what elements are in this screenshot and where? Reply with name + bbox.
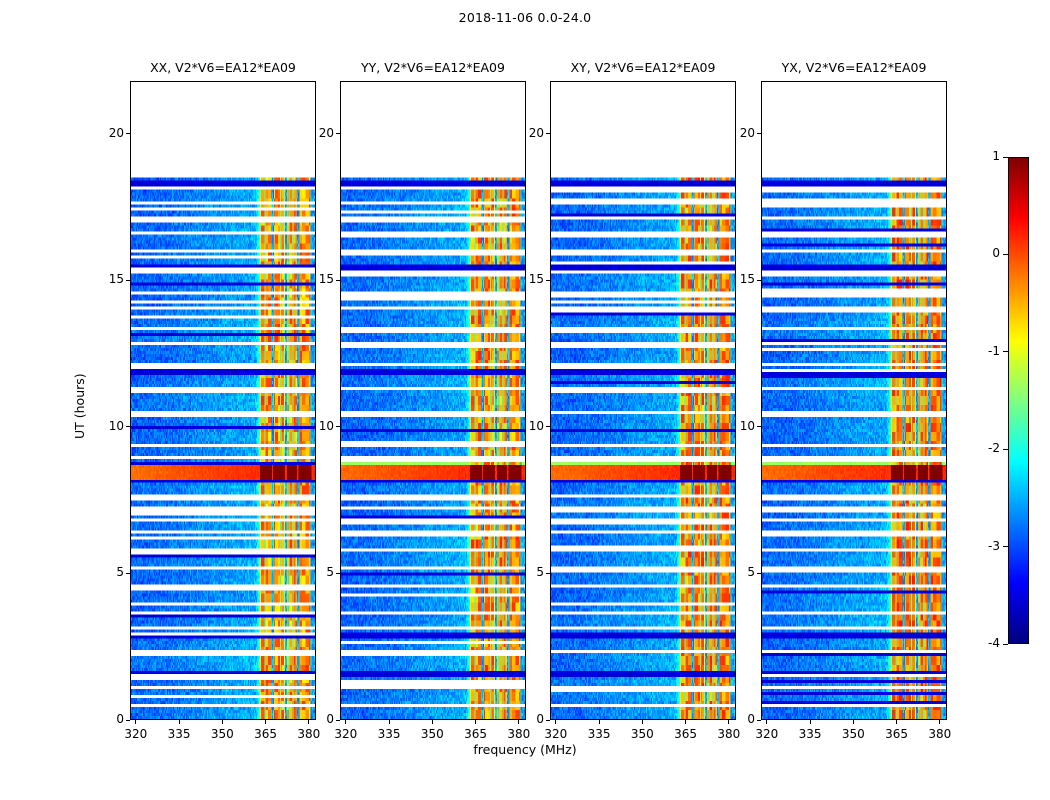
x-tick-mark bbox=[345, 720, 346, 724]
y-tick-mark bbox=[126, 133, 130, 134]
y-tick-label: 20 bbox=[717, 126, 755, 140]
y-tick-mark bbox=[546, 280, 550, 281]
x-tick-mark bbox=[432, 720, 433, 724]
colorbar-tick-label: -1 bbox=[960, 344, 1000, 358]
y-tick-mark bbox=[757, 426, 761, 427]
y-tick-label: 0 bbox=[506, 712, 544, 726]
x-tick-label: 365 bbox=[454, 727, 498, 741]
y-tick-mark bbox=[336, 133, 340, 134]
waterfall-panel-yx bbox=[761, 81, 947, 720]
y-tick-mark bbox=[336, 426, 340, 427]
colorbar bbox=[1008, 157, 1029, 644]
y-tick-mark bbox=[546, 426, 550, 427]
y-tick-label: 15 bbox=[506, 272, 544, 286]
y-tick-mark bbox=[126, 573, 130, 574]
panel-title-xy: XY, V2*V6=EA12*EA09 bbox=[550, 60, 736, 75]
x-tick-mark bbox=[766, 720, 767, 724]
y-tick-mark bbox=[757, 280, 761, 281]
x-tick-label: 350 bbox=[620, 727, 664, 741]
colorbar-tick-mark bbox=[1003, 644, 1008, 645]
y-tick-label: 0 bbox=[296, 712, 334, 726]
colorbar-tick-mark bbox=[1003, 157, 1008, 158]
x-tick-label: 350 bbox=[200, 727, 244, 741]
y-tick-mark bbox=[546, 133, 550, 134]
y-tick-mark bbox=[126, 426, 130, 427]
y-tick-label: 15 bbox=[717, 272, 755, 286]
x-tick-mark bbox=[389, 720, 390, 724]
x-tick-label: 335 bbox=[577, 727, 621, 741]
y-tick-label: 10 bbox=[717, 419, 755, 433]
x-tick-label: 320 bbox=[534, 727, 578, 741]
y-tick-label: 10 bbox=[86, 419, 124, 433]
x-tick-label: 335 bbox=[788, 727, 832, 741]
y-tick-label: 0 bbox=[717, 712, 755, 726]
x-tick-mark bbox=[135, 720, 136, 724]
waterfall-image-yy bbox=[341, 82, 525, 719]
x-tick-mark bbox=[939, 720, 940, 724]
x-tick-label: 320 bbox=[745, 727, 789, 741]
x-tick-mark bbox=[222, 720, 223, 724]
y-tick-label: 5 bbox=[296, 565, 334, 579]
waterfall-panel-yy bbox=[340, 81, 526, 720]
colorbar-tick-mark bbox=[1003, 449, 1008, 450]
colorbar-tick-label: -2 bbox=[960, 441, 1000, 455]
x-tick-mark bbox=[599, 720, 600, 724]
x-tick-label: 365 bbox=[244, 727, 288, 741]
y-tick-label: 15 bbox=[86, 272, 124, 286]
y-tick-mark bbox=[336, 280, 340, 281]
x-tick-label: 335 bbox=[157, 727, 201, 741]
y-tick-mark bbox=[757, 720, 761, 721]
waterfall-image-yx bbox=[762, 82, 946, 719]
x-axis-title: frequency (MHz) bbox=[0, 742, 1050, 757]
y-tick-label: 10 bbox=[506, 419, 544, 433]
y-tick-mark bbox=[546, 720, 550, 721]
y-tick-label: 20 bbox=[86, 126, 124, 140]
panel-title-xx: XX, V2*V6=EA12*EA09 bbox=[130, 60, 316, 75]
y-tick-label: 20 bbox=[506, 126, 544, 140]
x-tick-label: 380 bbox=[918, 727, 962, 741]
panel-title-yx: YX, V2*V6=EA12*EA09 bbox=[761, 60, 947, 75]
y-tick-label: 5 bbox=[86, 565, 124, 579]
y-tick-mark bbox=[336, 720, 340, 721]
y-tick-label: 20 bbox=[296, 126, 334, 140]
x-tick-mark bbox=[853, 720, 854, 724]
colorbar-tick-label: 0 bbox=[960, 246, 1000, 260]
x-tick-mark bbox=[179, 720, 180, 724]
x-tick-label: 365 bbox=[664, 727, 708, 741]
x-tick-label: 320 bbox=[324, 727, 368, 741]
x-tick-label: 350 bbox=[831, 727, 875, 741]
y-tick-mark bbox=[336, 573, 340, 574]
x-tick-mark bbox=[555, 720, 556, 724]
colorbar-tick-label: -3 bbox=[960, 539, 1000, 553]
colorbar-tick-mark bbox=[1003, 546, 1008, 547]
y-tick-label: 5 bbox=[717, 565, 755, 579]
y-tick-label: 10 bbox=[296, 419, 334, 433]
x-tick-label: 365 bbox=[875, 727, 919, 741]
x-tick-mark bbox=[475, 720, 476, 724]
figure-canvas: 2018-11-06 0.0-24.0 XX, V2*V6=EA12*EA09 … bbox=[0, 0, 1050, 800]
y-tick-mark bbox=[546, 573, 550, 574]
x-tick-label: 320 bbox=[114, 727, 158, 741]
x-tick-mark bbox=[265, 720, 266, 724]
waterfall-image-xx bbox=[131, 82, 315, 719]
x-tick-mark bbox=[685, 720, 686, 724]
y-tick-mark bbox=[757, 133, 761, 134]
y-tick-label: 5 bbox=[506, 565, 544, 579]
colorbar-tick-label: -4 bbox=[960, 636, 1000, 650]
y-tick-mark bbox=[757, 573, 761, 574]
y-tick-mark bbox=[126, 280, 130, 281]
waterfall-image-xy bbox=[551, 82, 735, 719]
y-tick-label: 0 bbox=[86, 712, 124, 726]
x-tick-mark bbox=[896, 720, 897, 724]
x-tick-label: 350 bbox=[410, 727, 454, 741]
panel-title-yy: YY, V2*V6=EA12*EA09 bbox=[340, 60, 526, 75]
x-tick-mark bbox=[810, 720, 811, 724]
x-tick-label: 335 bbox=[367, 727, 411, 741]
x-tick-mark bbox=[642, 720, 643, 724]
colorbar-tick-mark bbox=[1003, 351, 1008, 352]
y-axis-title: UT (hours) bbox=[72, 373, 87, 439]
waterfall-panel-xy bbox=[550, 81, 736, 720]
y-tick-label: 15 bbox=[296, 272, 334, 286]
colorbar-tick-mark bbox=[1003, 254, 1008, 255]
colorbar-tick-label: 1 bbox=[960, 149, 1000, 163]
waterfall-panel-xx bbox=[130, 81, 316, 720]
figure-suptitle: 2018-11-06 0.0-24.0 bbox=[0, 10, 1050, 25]
y-tick-mark bbox=[126, 720, 130, 721]
